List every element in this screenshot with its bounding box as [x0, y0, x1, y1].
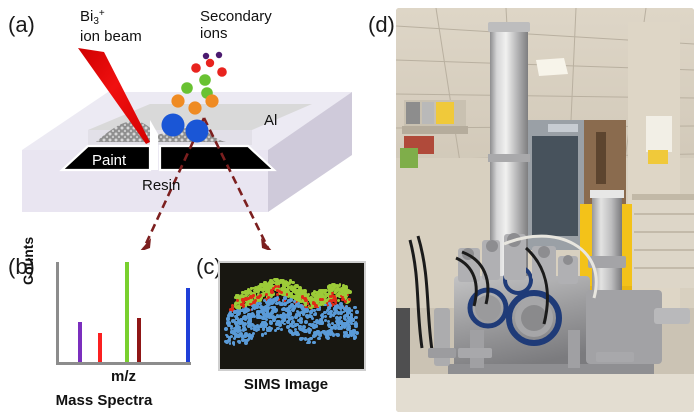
peak-blue [186, 288, 190, 362]
sims-dot-blue [261, 321, 264, 324]
sims-dot-blue [253, 315, 256, 318]
shelf-edge [402, 126, 468, 134]
sims-dot-blue [313, 321, 316, 324]
mass-spectrum-plot [56, 262, 191, 365]
panel-a-schematic: (a) Bi3+ ion beam Secondary ions [0, 0, 372, 250]
sims-dot-blue [317, 308, 320, 311]
sims-dot-blue [276, 320, 279, 323]
sims-dot-blue [279, 314, 282, 317]
sims-dot-blue [290, 323, 293, 326]
sims-dot-blue [230, 330, 233, 333]
sims-dot-blue [294, 323, 297, 326]
panel-b-mass-spectra: (b) Counts m/z Mass Spectra [6, 252, 196, 420]
sims-dot-blue [337, 324, 340, 327]
sims-image-canvas [218, 261, 366, 371]
sims-dot-blue [355, 310, 359, 314]
y-axis-label: Counts [20, 237, 36, 285]
leg-flange [458, 348, 492, 358]
sims-dot-blue [287, 311, 291, 315]
sims-dot-red [241, 298, 245, 302]
sims-dot-blue [353, 306, 356, 309]
resin-label: Resin [142, 177, 180, 194]
sims-dot-blue [250, 313, 253, 316]
sims-dot-green [289, 292, 293, 296]
sims-dot-blue [300, 311, 303, 314]
sims-dot-blue [243, 311, 246, 314]
sims-dot-blue [299, 320, 303, 324]
purple-ion [203, 53, 209, 59]
panel-b-caption: Mass Spectra [14, 392, 194, 409]
sims-dot-blue [243, 322, 247, 326]
blue-ion [162, 114, 185, 137]
sims-dot-blue [299, 337, 303, 341]
photo-content [396, 8, 694, 412]
floor [396, 374, 694, 412]
orange-ion [188, 101, 201, 114]
x-axis-label: m/z [56, 368, 191, 385]
sims-dot-blue [269, 321, 273, 325]
sims-dot-blue [251, 305, 254, 308]
panel-c-sims-image: (c) SIMS Image [196, 252, 372, 420]
sims-dot-red [286, 293, 288, 295]
sims-dot-blue [235, 315, 238, 318]
sims-dot-blue [248, 335, 252, 339]
sims-dot-blue [256, 311, 259, 314]
sims-dot-green [321, 289, 324, 292]
sims-dot-blue [276, 327, 279, 330]
green-ion [181, 82, 193, 94]
sims-dot-blue [230, 313, 234, 317]
sims-dot-green [327, 285, 331, 289]
sims-dot-red [347, 294, 349, 296]
sims-dot-red [348, 298, 352, 302]
sims-dot-blue [328, 302, 331, 305]
purple-ion [216, 52, 222, 58]
red-ion [217, 67, 227, 77]
sims-dot-blue [242, 316, 245, 319]
orange-ion [171, 94, 184, 107]
sims-dot-blue [255, 305, 259, 309]
sample-block-diagram: Al Paint Resin [0, 0, 372, 250]
sims-dot-green [299, 289, 302, 292]
sims-dot-blue [280, 328, 283, 331]
sims-dot-blue [272, 298, 275, 301]
peak-darkred [137, 318, 141, 362]
sims-dot-blue [314, 325, 317, 328]
sims-dot-blue [329, 315, 332, 318]
sims-dot-red [231, 304, 234, 307]
sims-dot-blue [237, 311, 240, 314]
ceiling-light [536, 58, 568, 76]
dark-wall-edge [396, 308, 410, 378]
column-mid-flange [488, 154, 530, 162]
door-window [596, 132, 606, 184]
sims-dot-blue [229, 311, 232, 314]
sims-dot-blue [292, 306, 296, 310]
sims-dot-blue [289, 330, 293, 334]
sims-dot-blue [298, 314, 301, 317]
sims-dot-blue [290, 303, 294, 307]
sims-dot-blue [279, 303, 283, 307]
red-ion [206, 59, 214, 67]
sims-dot-blue [243, 328, 247, 332]
sims-dot-blue [258, 315, 262, 319]
paint-label: Paint [92, 152, 127, 169]
viewport-center-inner [521, 305, 547, 331]
sims-dot-blue [339, 311, 343, 315]
sims-dot-blue [304, 320, 308, 324]
sims-dot-blue [224, 327, 228, 331]
sims-dot-green [266, 283, 269, 286]
sims-dot-blue [266, 309, 269, 312]
shelf-module [422, 102, 434, 124]
panel-c-caption: SIMS Image [206, 376, 366, 393]
green-ion [199, 74, 211, 86]
panel-d-instrument-photo: (d) [396, 8, 694, 412]
x-axis-line [56, 362, 191, 365]
shelf-module-yellow [436, 102, 454, 124]
sims-dot-blue [239, 329, 242, 332]
peak-red [98, 333, 102, 362]
sims-dot-blue [261, 310, 264, 313]
support-leg [568, 330, 580, 368]
storage-cabinet [632, 196, 694, 288]
column-top-flange [488, 22, 530, 32]
sims-dot-blue [353, 336, 357, 340]
al-label: Al [264, 112, 277, 129]
peak-green [125, 262, 129, 362]
sims-dot-blue [226, 317, 230, 321]
fridge-glass-door [532, 136, 578, 236]
sims-dot-blue [252, 324, 255, 327]
sims-dot-blue [308, 314, 312, 318]
leg-flange [596, 352, 634, 362]
sims-dot-green [282, 284, 286, 288]
figure-root: (a) Bi3+ ion beam Secondary ions [0, 0, 700, 420]
sims-dot-blue [350, 334, 353, 337]
panel-d-label: (d) [368, 12, 395, 38]
sims-dot-blue [325, 335, 329, 339]
left-pipe-flange [428, 348, 456, 358]
sims-dot-blue [314, 312, 317, 315]
sims-dot-green [255, 289, 259, 293]
sims-dot-blue [281, 319, 285, 323]
shelf-module [406, 102, 420, 124]
blue-ion [186, 120, 209, 143]
sims-dot-blue [320, 319, 323, 322]
sims-dot-blue [226, 321, 230, 325]
sims-dot-red [319, 298, 322, 301]
sims-dot-blue [347, 311, 350, 314]
sims-dot-blue [297, 302, 300, 305]
sims-dot-blue [252, 332, 255, 335]
sims-dot-blue [320, 322, 324, 326]
side-port [654, 308, 690, 324]
sims-dot-green [304, 292, 307, 295]
sims-dot-blue [294, 315, 298, 319]
peak-purple [78, 322, 82, 362]
sims-dot-blue [261, 333, 265, 337]
sims-dot-blue [306, 309, 309, 312]
sims-dot-blue [278, 323, 282, 327]
y-axis-line [56, 262, 59, 365]
sims-dot-blue [349, 316, 352, 319]
sims-dot-blue [248, 322, 252, 326]
sims-dot-green [244, 292, 247, 295]
sims-dot-blue [268, 326, 271, 329]
cabinet-top [632, 194, 694, 200]
sims-dot-green [289, 279, 292, 282]
red-ion [191, 63, 201, 73]
sims-dot-blue [274, 316, 277, 319]
fridge-handle [548, 124, 578, 132]
secondary-column-top [590, 190, 624, 198]
sims-dot-red [265, 293, 268, 296]
sims-dot-blue [229, 342, 232, 345]
sims-dot-red [330, 295, 333, 298]
sims-dot-blue [312, 341, 316, 345]
orange-ion [205, 94, 218, 107]
sims-dot-red [236, 299, 239, 302]
sims-dot-blue [317, 337, 320, 340]
yellow-tag [648, 150, 668, 164]
sims-dot-blue [264, 332, 267, 335]
green-equipment [400, 148, 418, 168]
sims-dot-blue [355, 331, 359, 335]
sims-dot-blue [324, 315, 327, 318]
sims-dot-blue [304, 329, 308, 333]
tof-sims-photograph [396, 8, 694, 412]
sims-dot-green [290, 287, 293, 290]
sims-dot-red [304, 299, 307, 302]
sims-dot-blue [235, 333, 238, 336]
wall-sign [646, 116, 672, 152]
sims-dot-green [266, 286, 270, 290]
sims-dot-blue [228, 336, 231, 339]
